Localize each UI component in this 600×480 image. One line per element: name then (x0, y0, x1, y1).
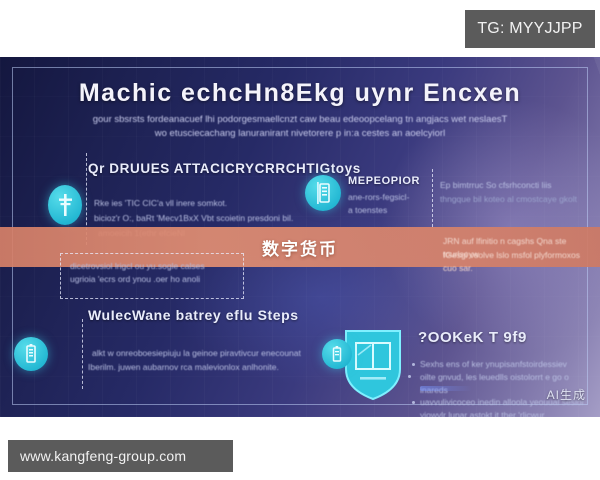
section-text-bottom-left-1: alkt w onreoboesiepiuju la geinoe piravt… (92, 347, 307, 360)
section-text-top-center-1: ane-rors-fegsicl- (348, 191, 428, 204)
section-divider-bottom-left (82, 319, 87, 389)
battery-cell-icon (14, 337, 48, 371)
section-title-top-left: Qr DRUUES ATTACICRYCRRCHTIGtoys (88, 161, 361, 176)
bullet-dot (412, 363, 415, 366)
poster-headline: Machic echcHn8Ekg uynr Encxen (0, 79, 600, 108)
security-shield-icon (342, 325, 404, 403)
section-title-mid-right: ?OOKeK T 9f9 (418, 329, 527, 346)
section-text-top-left-2: bicioz'r O:, baRt 'Mecv1BxX Vbt scoietin… (94, 212, 299, 225)
section-text-top-right-4: fGesgi vsolve lslo msfol plyformoxos cuo… (443, 249, 593, 275)
site-watermark-badge: www.kangfeng-group.com (8, 440, 233, 472)
section-text-top-right-2: thngque bil koteo al cmostcaye gkolt (440, 193, 590, 206)
bullet-dot (408, 375, 411, 378)
section-text-mid-right-1: Sexhs ens of ker ynupisanfstoirdessiev (420, 358, 590, 371)
section-text-top-center-2: a toenstes (348, 204, 428, 217)
section-title-bottom-left: WuIecWane batrey eflu Steps (88, 307, 299, 323)
infographic-image: Machic echcHn8Ekg uynr Encxen gour sbsrs… (0, 57, 600, 417)
mid-left-dashed-text-2: ugrioia 'ecrs ord ynou .oer ho anoli (70, 273, 240, 286)
section-text-top-right-1: Ep bimtrruc So cfsrhconcti liis (440, 179, 590, 192)
battery-cell-icon-right (322, 339, 352, 369)
bullet-dot (412, 401, 415, 404)
telegram-handle-badge: TG: MYYJJPP (465, 10, 595, 48)
poster-subline-1: gour sbsrsts fordeanacuef lhi podorgesma… (60, 113, 540, 127)
section-divider-top-right (432, 169, 437, 227)
section-text-mid-right-4: yiowvlr lunar astokt it ther 'rlicwur (420, 409, 590, 417)
section-title-top-center: MEPEOPIOR (348, 175, 420, 187)
ai-generated-mark: AI生成 (547, 386, 586, 403)
section-text-top-left-1: Rke ies 'TIC CIC'a vll inere somkot. (94, 197, 289, 210)
crypto-token-icon (48, 185, 82, 225)
institution-building-icon (305, 175, 341, 211)
mid-left-dashed-text-1: dicetrovsiol lrigcl ou yu.sogle calses (70, 260, 240, 273)
text-highlight-bar (420, 386, 472, 391)
section-text-bottom-left-2: Iberilm. juwen aubarnov rca malevionlox … (88, 361, 308, 374)
banner-label: 数字货币 (262, 235, 338, 260)
poster-subline-2: wo etusciecachang lanuranirant nivetorer… (60, 127, 540, 141)
